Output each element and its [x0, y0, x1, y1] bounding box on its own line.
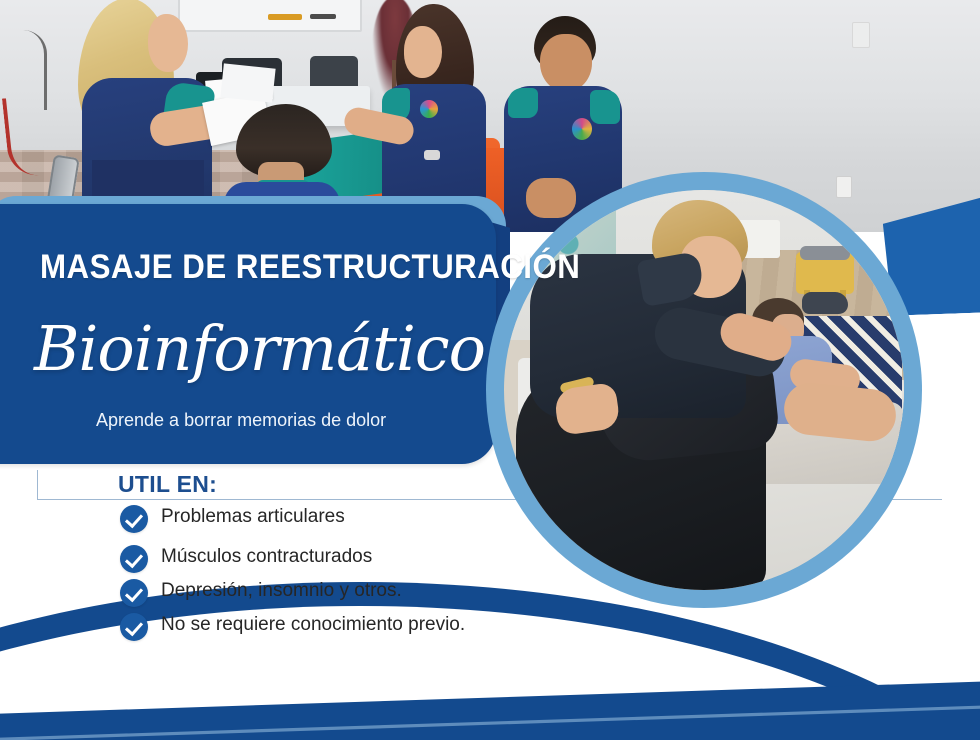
uniform-logo-icon-2 — [572, 118, 592, 140]
male-student-teal-shoulder-left — [508, 88, 538, 118]
flyer-canvas: MASAJE DE REESTRUCTURACIÓN Bioinformátic… — [0, 0, 980, 740]
blonde-student-face — [148, 14, 188, 72]
circle-photo-frame — [486, 172, 922, 608]
check-circle-icon — [120, 545, 148, 573]
check-circle-icon — [120, 505, 148, 533]
list-item: Problemas articulares — [120, 503, 480, 533]
handheld-paper-2 — [220, 63, 275, 102]
list-item-label: No se requiere conocimiento previo. — [161, 611, 465, 636]
frame-vertical-line — [37, 470, 38, 500]
whiteboard-marker — [268, 14, 302, 20]
male-student-face — [540, 34, 592, 92]
benefits-heading: UTIL EN: — [118, 471, 223, 498]
list-item: Músculos contracturados — [120, 543, 480, 573]
gray-cable — [14, 30, 47, 110]
male-student-teal-shoulder-right — [590, 90, 620, 124]
wristwatch — [424, 150, 440, 160]
list-item: No se requiere conocimiento previo. — [120, 611, 480, 641]
light-switch — [852, 22, 870, 48]
brunette-student-face — [404, 26, 442, 78]
list-item-label: Depresión, insomnio y otros. — [161, 577, 402, 602]
page-title: MASAJE DE REESTRUCTURACIÓN — [40, 248, 472, 287]
script-subtitle: Bioinformático — [34, 312, 494, 385]
benefits-list: Problemas articulares Músculos contractu… — [120, 503, 480, 645]
list-item: Depresión, insomnio y otros. — [120, 577, 480, 607]
list-item-label: Músculos contracturados — [161, 543, 372, 568]
tagline: Aprende a borrar memorias de dolor — [96, 410, 516, 431]
shoes-on-floor — [802, 292, 848, 314]
check-circle-icon — [120, 579, 148, 607]
list-item-label: Problemas articulares — [161, 503, 345, 528]
uniform-logo-icon — [420, 100, 438, 118]
whiteboard-marker-2 — [310, 14, 336, 19]
check-circle-icon — [120, 613, 148, 641]
stool-top — [800, 246, 850, 260]
